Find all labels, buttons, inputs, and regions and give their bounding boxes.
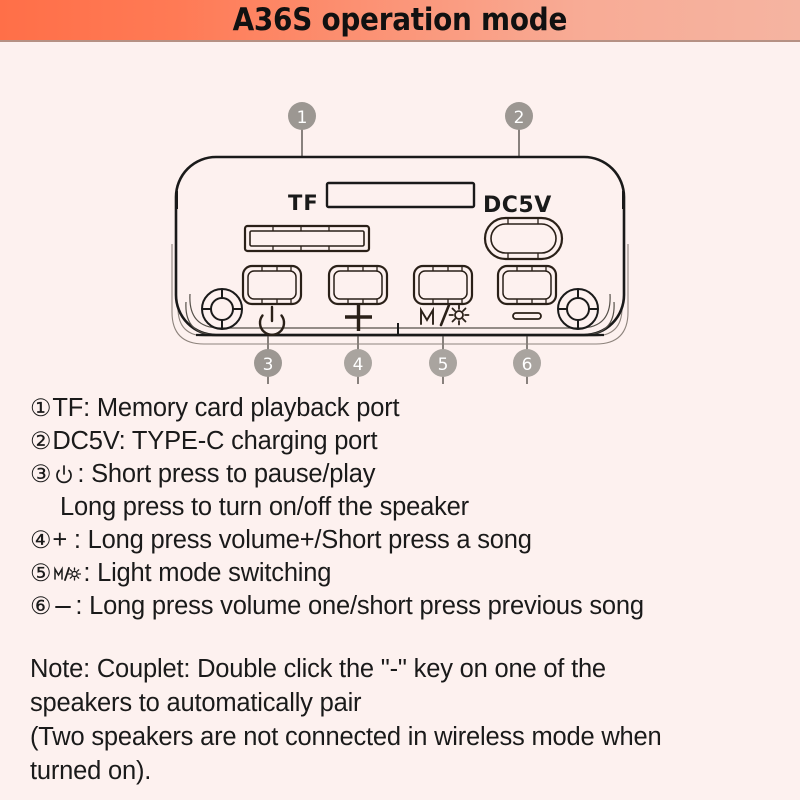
instruction-item-3b: Long press to turn on/off the speaker: [30, 491, 775, 524]
instruction-item-4: ④ + : Long press volume+/Short press a s…: [30, 524, 775, 557]
note-line-4: turned on).: [30, 754, 782, 788]
callout-badge-6-label: 6: [522, 355, 533, 375]
note-block: Note: Couplet: Double click the "-" key …: [30, 652, 782, 788]
callout-badge-4: 4: [344, 349, 372, 377]
note-line-3: (Two speakers are not connected in wirel…: [30, 720, 782, 754]
instruction-marker-6: ⑥: [30, 590, 51, 623]
instruction-text-3b: Long press to turn on/off the speaker: [60, 491, 469, 524]
tf-label: TF: [288, 191, 319, 215]
callout-badge-5: 5: [429, 349, 457, 377]
instruction-text-2: DC5V: TYPE-C charging port: [52, 425, 377, 458]
instruction-item-5: ⑤: [30, 557, 775, 590]
instruction-item-1: ① TF: Memory card playback port: [30, 392, 775, 425]
note-line-1: Note: Couplet: Double click the "-" key …: [30, 652, 782, 686]
callout-badge-3: 3: [254, 349, 282, 377]
callout-badge-6: 6: [513, 349, 541, 377]
instruction-marker-2: ②: [30, 425, 51, 458]
device-diagram: TF DC5V: [0, 44, 800, 384]
instruction-item-2: ② DC5V: TYPE-C charging port: [30, 425, 775, 458]
callout-badge-4-label: 4: [353, 355, 364, 375]
power-icon: [53, 461, 75, 494]
callout-badge-3-label: 3: [263, 355, 274, 375]
callout-badge-5-label: 5: [438, 355, 449, 375]
note-line-2: speakers to automatically pair: [30, 686, 782, 720]
instruction-marker-1: ①: [30, 392, 51, 425]
minus-icon: [53, 593, 73, 626]
header-banner: A36S operation mode: [0, 0, 800, 42]
light-mode-icon: [53, 560, 81, 593]
callout-badge-1: 1: [288, 102, 316, 130]
page-title: A36S operation mode: [233, 2, 568, 38]
instruction-text-1: TF: Memory card playback port: [52, 392, 399, 425]
instruction-text-4: + : Long press volume+/Short press a son…: [52, 524, 531, 557]
instruction-item-3: ③ : Short press to pause/play: [30, 458, 775, 491]
callout-badge-2: 2: [505, 102, 533, 130]
instruction-marker-4: ④: [30, 524, 51, 557]
instruction-marker-5: ⑤: [30, 557, 51, 590]
instruction-marker-3: ③: [30, 458, 51, 491]
instruction-item-6: ⑥ : Long press volume one/short press pr…: [30, 590, 775, 623]
instruction-text-3: : Short press to pause/play: [77, 458, 375, 491]
callout-badge-1-label: 1: [297, 108, 308, 128]
dc5v-label: DC5V: [483, 193, 552, 218]
callout-badge-2-label: 2: [514, 108, 525, 128]
instruction-text-6: : Long press volume one/short press prev…: [75, 590, 644, 623]
instruction-list: ① TF: Memory card playback port ② DC5V: …: [30, 392, 775, 623]
instruction-text-5: : Light mode switching: [83, 557, 331, 590]
